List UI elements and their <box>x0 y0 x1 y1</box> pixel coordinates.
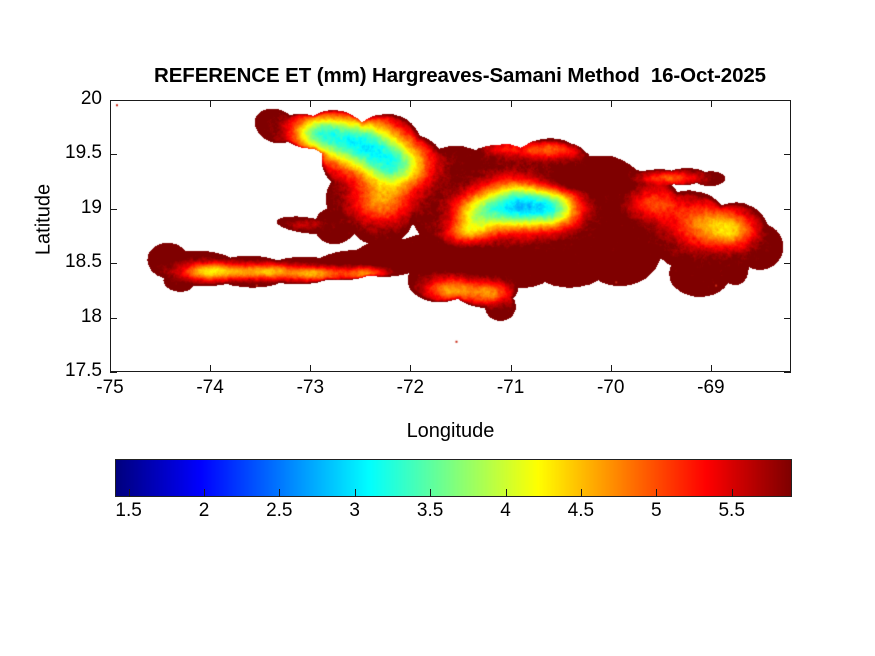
x-tick-label: -69 <box>676 377 746 399</box>
x-tick-label: -70 <box>576 377 646 399</box>
y-tick <box>784 209 791 210</box>
y-tick <box>784 100 791 101</box>
y-tick <box>784 263 791 264</box>
y-axis-label: Latitude <box>33 150 56 290</box>
x-tick <box>210 100 211 107</box>
y-tick <box>110 209 117 210</box>
colorbar-tick <box>581 489 582 497</box>
colorbar-tick <box>279 489 280 497</box>
y-tick-label: 17.5 <box>42 360 102 382</box>
colorbar-tick-label: 2 <box>174 500 234 522</box>
colorbar-tick <box>506 489 507 497</box>
x-tick <box>410 365 411 372</box>
figure-canvas: REFERENCE ET (mm) Hargreaves-Samani Meth… <box>0 0 875 656</box>
x-tick-label: -73 <box>275 377 345 399</box>
colorbar-tick-label: 5 <box>626 500 686 522</box>
colorbar[interactable] <box>115 459 792 497</box>
x-tick <box>310 100 311 107</box>
colorbar-tick <box>430 489 431 497</box>
x-tick-label: -71 <box>476 377 546 399</box>
colorbar-tick-label: 4.5 <box>551 500 611 522</box>
colorbar-tick-label: 1.5 <box>99 500 159 522</box>
y-tick-label: 20 <box>42 88 102 110</box>
colorbar-tick <box>355 489 356 497</box>
colorbar-tick <box>129 489 130 497</box>
y-tick <box>784 318 791 319</box>
page-title: REFERENCE ET (mm) Hargreaves-Samani Meth… <box>110 64 810 88</box>
x-tick <box>711 365 712 372</box>
colorbar-tick-label: 3 <box>325 500 385 522</box>
x-tick <box>511 100 512 107</box>
y-tick <box>110 318 117 319</box>
et-raster-map <box>111 101 790 371</box>
x-tick <box>410 100 411 107</box>
x-tick <box>310 365 311 372</box>
colorbar-tick-label: 3.5 <box>400 500 460 522</box>
colorbar-tick <box>656 489 657 497</box>
colorbar-tick-label: 2.5 <box>249 500 309 522</box>
x-tick <box>511 365 512 372</box>
x-tick <box>611 100 612 107</box>
colorbar-tick-label: 4 <box>476 500 536 522</box>
x-tick <box>711 100 712 107</box>
colorbar-tick <box>204 489 205 497</box>
y-tick <box>784 372 791 373</box>
x-axis-label: Longitude <box>110 420 791 443</box>
x-tick <box>611 365 612 372</box>
y-tick <box>110 372 117 373</box>
map-axes[interactable] <box>110 100 791 372</box>
colorbar-tick-label: 5.5 <box>702 500 762 522</box>
x-tick <box>110 365 111 372</box>
x-tick <box>110 100 111 107</box>
y-tick-label: 18 <box>42 306 102 328</box>
x-tick-label: -72 <box>375 377 445 399</box>
y-tick <box>110 154 117 155</box>
y-tick <box>784 154 791 155</box>
colorbar-gradient <box>115 459 792 497</box>
x-tick-label: -74 <box>175 377 245 399</box>
colorbar-tick <box>732 489 733 497</box>
y-tick <box>110 263 117 264</box>
x-tick <box>210 365 211 372</box>
y-tick <box>110 100 117 101</box>
